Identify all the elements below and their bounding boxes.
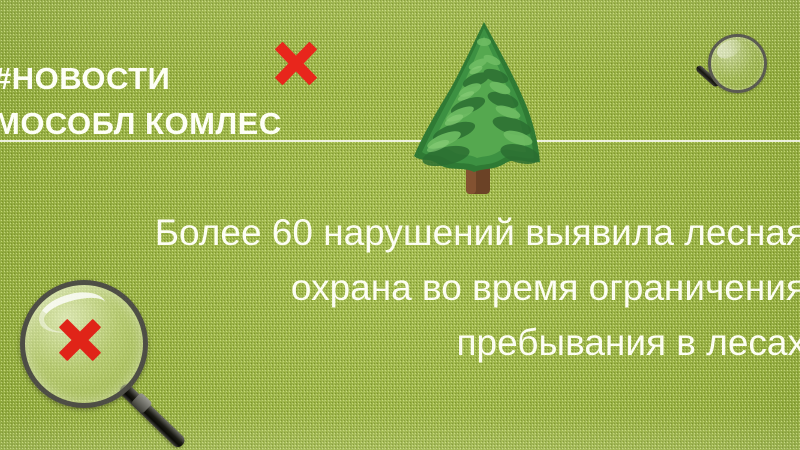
news-banner: #НОВОСТИ МОСОБЛ КОМЛЕС [0, 0, 800, 450]
magnifier-handle [117, 382, 186, 450]
hashtag-block: #НОВОСТИ МОСОБЛ КОМЛЕС [0, 56, 282, 146]
hashtag-line-2: МОСОБЛ КОМЛЕС [0, 101, 282, 146]
headline-block: Более 60 нарушений выявила лесная охрана… [0, 205, 800, 370]
evergreen-tree-icon [408, 14, 560, 194]
headline-line-3: пребывания в лесах [0, 315, 800, 370]
hashtag-line-1: #НОВОСТИ [0, 56, 282, 101]
headline-line-1: Более 60 нарушений выявила лесная [0, 205, 800, 260]
magnifying-glass-icon [686, 28, 778, 120]
red-x-mark-icon [268, 35, 324, 91]
headline-line-2: охрана во время ограничения [0, 260, 800, 315]
